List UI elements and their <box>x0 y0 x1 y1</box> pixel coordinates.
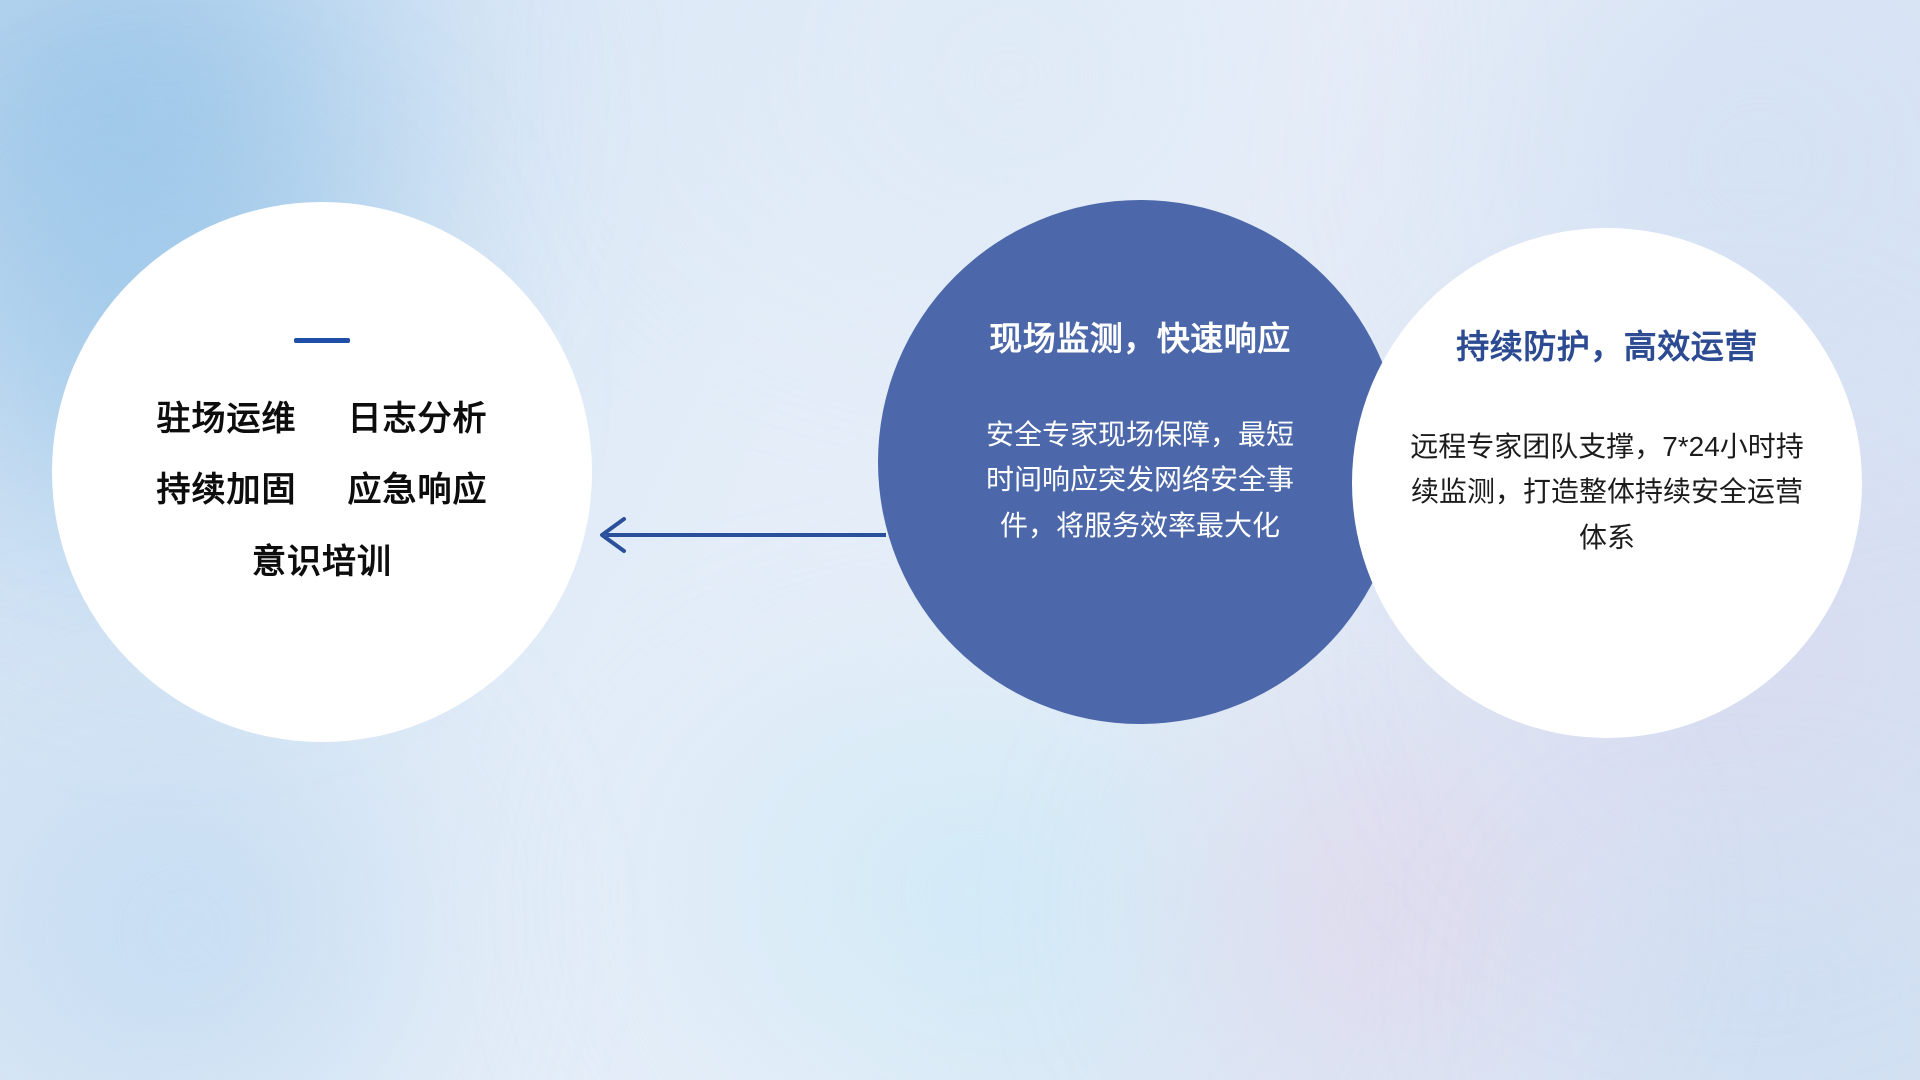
left-service-row-1: 驻场运维 日志分析 <box>157 401 488 438</box>
left-service-item-1: 驻场运维 <box>157 400 297 438</box>
mid-circle-body: 安全专家现场保障，最短时间响应突发网络安全事件，将服务效率最大化 <box>980 412 1300 548</box>
arrow-left-icon <box>590 505 890 565</box>
divider-dash-icon <box>294 338 350 343</box>
left-service-circle[interactable]: 驻场运维 日志分析 持续加固 应急响应 意识培训 <box>52 202 592 742</box>
left-service-item-2: 日志分析 <box>347 400 487 438</box>
slide-canvas: 驻场运维 日志分析 持续加固 应急响应 意识培训 现场监测，快速响应 安全专家现… <box>0 0 1920 1080</box>
left-service-item-4: 应急响应 <box>347 471 487 509</box>
right-circle-body: 远程专家团队支撑，7*24小时持续监测，打造整体持续安全运营体系 <box>1405 424 1809 560</box>
left-service-row-2: 持续加固 应急响应 <box>157 472 488 509</box>
left-service-item-3: 持续加固 <box>157 471 297 509</box>
right-circle-title: 持续防护，高效运营 <box>1456 320 1758 368</box>
left-service-row-3: 意识培训 <box>252 544 392 581</box>
left-service-item-5: 意识培训 <box>252 543 392 581</box>
mid-circle-title: 现场监测，快速响应 <box>989 312 1291 360</box>
right-service-circle[interactable]: 持续防护，高效运营 远程专家团队支撑，7*24小时持续监测，打造整体持续安全运营… <box>1352 228 1862 738</box>
mid-service-circle[interactable]: 现场监测，快速响应 安全专家现场保障，最短时间响应突发网络安全事件，将服务效率最… <box>878 200 1402 724</box>
